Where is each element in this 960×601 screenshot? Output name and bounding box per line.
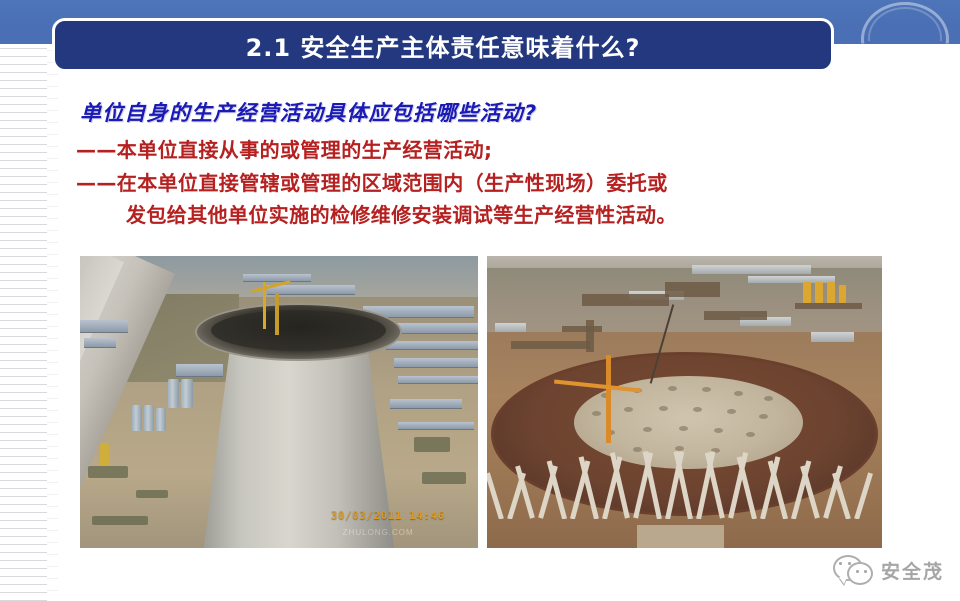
photo-cooling-tower-foundation bbox=[487, 256, 882, 548]
page-title: 2.1 安全生产主体责任意味着什么? bbox=[246, 28, 641, 63]
bullet-item-1: ——本单位直接从事的或管理的生产经营活动; bbox=[76, 134, 862, 166]
photo-cooling-tower-aerial: 30/03/2011 14:46 ZHULONG.COM bbox=[80, 256, 478, 548]
photo-timestamp: 30/03/2011 14:46 bbox=[331, 509, 445, 522]
slide-body: 单位自身的生产经营活动具体应包括哪些活动? ——本单位直接从事的或管理的生产经营… bbox=[72, 100, 862, 231]
bullet-item-2-continued: 发包给其他单位实施的检修维修安装调试等生产经营性活动。 bbox=[126, 199, 862, 231]
slide-canvas: 2.1 安全生产主体责任意味着什么? 单位自身的生产经营活动具体应包括哪些活动?… bbox=[0, 0, 960, 601]
arc-decoration-secondary-icon bbox=[868, 7, 942, 69]
wechat-icon bbox=[833, 555, 873, 585]
left-stripe-decoration-fade bbox=[47, 44, 58, 601]
bullet-item-2: ——在本单位直接管辖或管理的区域范围内（生产性现场）委托或 bbox=[76, 167, 862, 199]
watermark-label: 安全茂 bbox=[881, 557, 944, 584]
wechat-watermark: 安全茂 bbox=[833, 555, 944, 585]
left-stripe-decoration bbox=[0, 44, 47, 601]
photo-site-watermark: ZHULONG.COM bbox=[343, 528, 414, 537]
slide-title-bar: 2.1 安全生产主体责任意味着什么? bbox=[52, 18, 834, 72]
body-heading: 单位自身的生产经营活动具体应包括哪些活动? bbox=[80, 100, 862, 126]
